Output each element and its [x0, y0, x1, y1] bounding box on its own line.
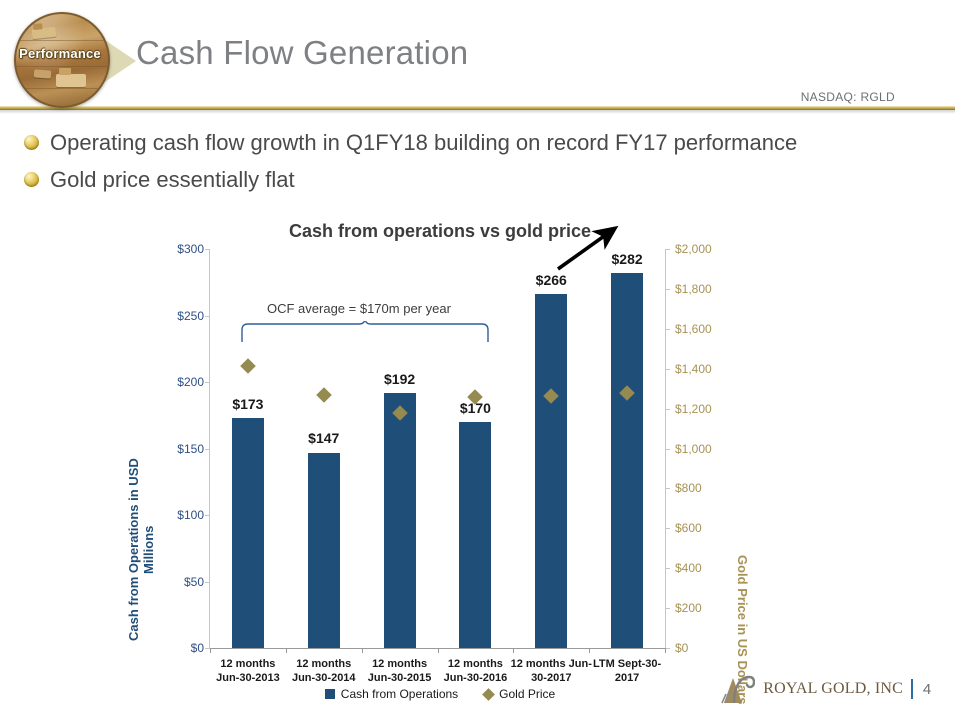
gold-sphere-bullet-icon [24, 135, 39, 150]
header-divider-shadow [0, 110, 955, 114]
royal-gold-logo: ROYAL GOLD, INC 4 [721, 674, 933, 704]
y-axis-tick-left: $100 [146, 508, 204, 522]
chart-title: Cash from operations vs gold price [0, 221, 880, 242]
y-axis-tick-mark-right [665, 289, 670, 290]
y-axis-tick-right: $1,800 [675, 282, 745, 296]
bullet-text: Gold price essentially flat [50, 165, 295, 195]
y-axis-tick-right: $1,600 [675, 322, 745, 336]
y-axis-tick-right: $600 [675, 521, 745, 535]
category-separator [438, 648, 439, 653]
y-axis-tick-mark-right [665, 369, 670, 370]
y-axis-tick-mark-right [665, 249, 670, 250]
gold-price-marker-0[interactable] [240, 358, 256, 374]
y-axis-tick-left: $0 [146, 641, 204, 655]
bar-0[interactable] [232, 418, 264, 648]
y-axis-tick-mark-left [205, 449, 210, 450]
haul-truck-icon [34, 69, 52, 78]
y-axis-tick-right: $400 [675, 561, 745, 575]
growth-arrow-icon [552, 219, 632, 279]
ticker-symbol: NASDAQ: RGLD [801, 90, 895, 104]
badge-label: Performance [8, 46, 112, 61]
y-axis-tick-right: $1,400 [675, 362, 745, 376]
y-axis-tick-right: $800 [675, 481, 745, 495]
category-separator [362, 648, 363, 653]
category-separator [513, 648, 514, 653]
list-item: Gold price essentially flat [24, 165, 924, 195]
y-axis-tick-mark-left [205, 316, 210, 317]
category-separator [589, 648, 590, 653]
performance-badge: Performance [8, 6, 112, 104]
slide-footer: ROYAL GOLD, INC 4 [0, 668, 955, 715]
logo-divider [911, 679, 913, 699]
y-axis-tick-mark-left [205, 582, 210, 583]
gold-price-marker-1[interactable] [316, 387, 332, 403]
y-axis-tick-mark-right [665, 409, 670, 410]
bar-value-label: $147 [308, 430, 339, 446]
bar-value-label: $192 [384, 371, 415, 387]
y-axis-tick-mark-right [665, 488, 670, 489]
slide-header: Performance Cash Flow Generation NASDAQ:… [0, 0, 955, 118]
bar-1[interactable] [308, 453, 340, 649]
y-axis-tick-left: $150 [146, 442, 204, 456]
chart-container: Cash from operations vs gold price Cash … [0, 205, 955, 695]
royal-gold-mark-icon [721, 674, 755, 704]
ocf-bracket-icon [240, 321, 490, 343]
bar-value-label: $173 [232, 396, 263, 412]
y-axis-tick-left: $300 [146, 242, 204, 256]
category-separator [210, 648, 211, 653]
y-axis-tick-right: $1,000 [675, 442, 745, 456]
bullet-list: Operating cash flow growth in Q1FY18 bui… [24, 128, 924, 202]
y-axis-tick-left: $250 [146, 309, 204, 323]
y-axis-tick-right: $200 [675, 601, 745, 615]
y-axis-tick-left: $50 [146, 575, 204, 589]
y-axis-tick-mark-left [205, 515, 210, 516]
list-item: Operating cash flow growth in Q1FY18 bui… [24, 128, 924, 158]
y-axis-tick-mark-right [665, 608, 670, 609]
bar-2[interactable] [384, 393, 416, 648]
y-axis-tick-right: $1,200 [675, 402, 745, 416]
category-separator [665, 648, 666, 653]
category-separator [286, 648, 287, 653]
haul-truck-icon [56, 74, 86, 87]
bar-5[interactable] [611, 273, 643, 648]
y-axis-label-left: Cash from Operations in USD Millions [126, 450, 146, 650]
y-axis-tick-mark-left [205, 249, 210, 250]
bar-4[interactable] [535, 294, 567, 648]
bar-3[interactable] [459, 422, 491, 648]
y-axis-tick-mark-right [665, 449, 670, 450]
haul-truck-icon [32, 27, 57, 39]
y-axis-tick-right: $0 [675, 641, 745, 655]
y-axis-tick-mark-right [665, 568, 670, 569]
logo-text: ROYAL GOLD, INC [763, 680, 903, 698]
y-axis-tick-right: $2,000 [675, 242, 745, 256]
gold-sphere-bullet-icon [24, 172, 39, 187]
page-number: 4 [921, 681, 933, 698]
y-axis-tick-mark-right [665, 528, 670, 529]
y-axis-tick-left: $200 [146, 375, 204, 389]
bullet-text: Operating cash flow growth in Q1FY18 bui… [50, 128, 797, 158]
y-axis-tick-mark-right [665, 329, 670, 330]
y-axis-tick-mark-left [205, 382, 210, 383]
page-title: Cash Flow Generation [136, 34, 468, 72]
ocf-average-annotation: OCF average = $170m per year [267, 301, 451, 316]
